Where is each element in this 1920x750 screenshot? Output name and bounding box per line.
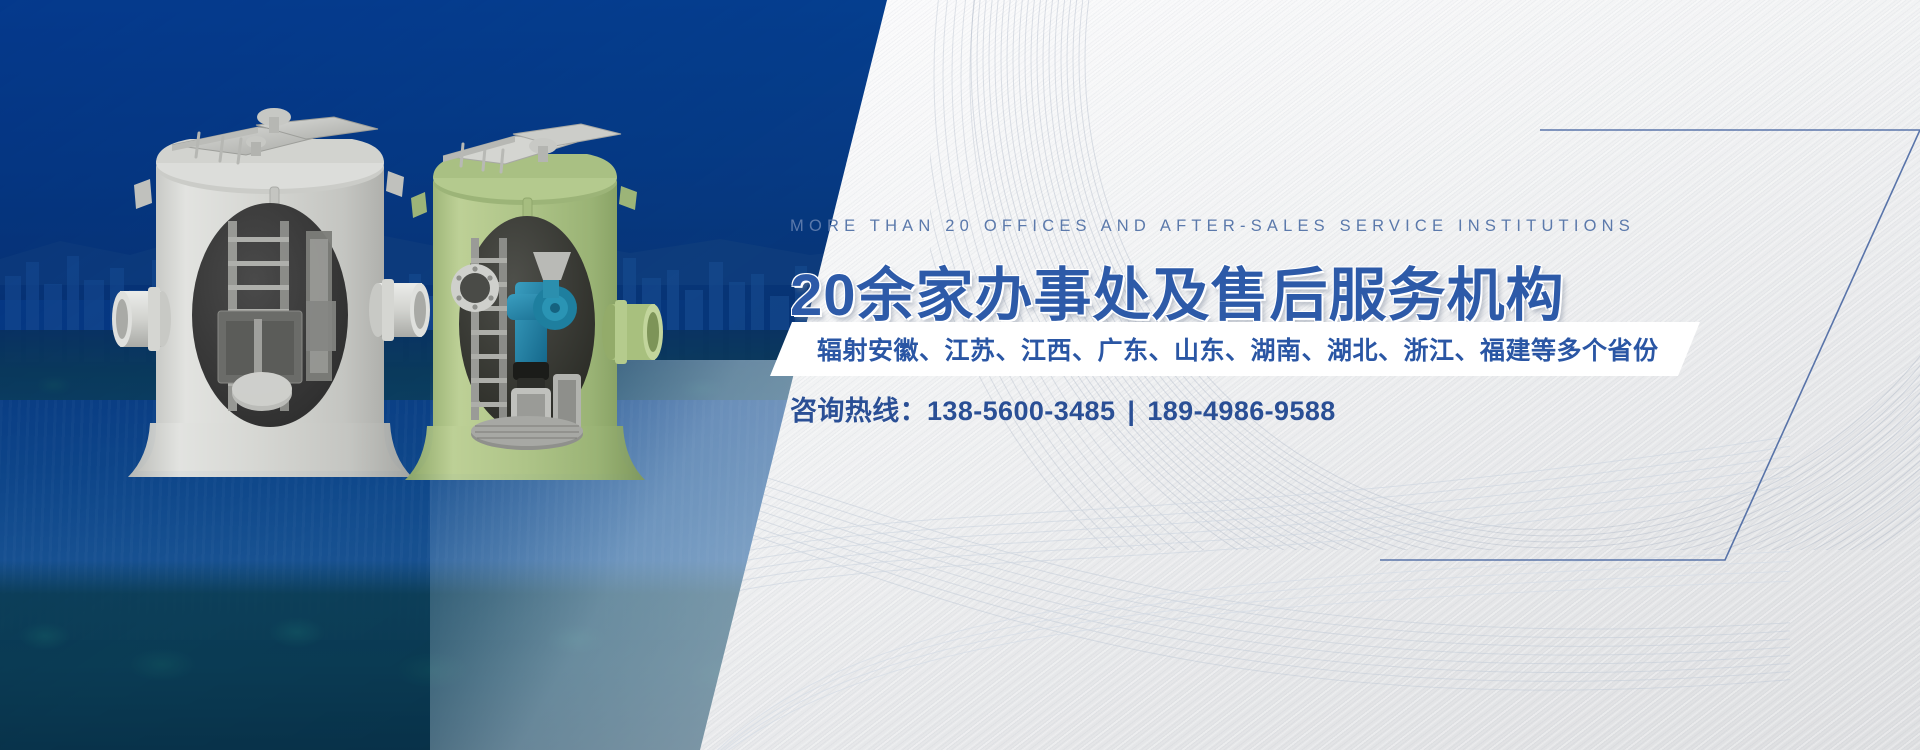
page-title: 20余家办事处及售后服务机构 xyxy=(790,248,1565,332)
eyebrow-text: MORE THAN 20 OFFICES AND AFTER-SALES SER… xyxy=(790,217,1390,236)
gray-pump-station-render xyxy=(120,105,420,505)
green-pump-station-render xyxy=(395,112,655,507)
hotline-primary-number[interactable]: 138-5600-3485 xyxy=(927,396,1115,426)
promo-banner: MORE THAN 20 OFFICES AND AFTER-SALES SER… xyxy=(0,0,1920,750)
coverage-bar: 辐射安徽、江苏、江西、广东、山东、湖南、湖北、浙江、福建等多个省份 xyxy=(770,322,1700,376)
hotline-label: 咨询热线： xyxy=(790,396,927,426)
hotline-separator: | xyxy=(1115,396,1147,426)
hotline-secondary-number[interactable]: 189-4986-9588 xyxy=(1147,396,1335,426)
hotline-row: 咨询热线：138-5600-3485|189-4986-9588 xyxy=(790,389,1336,428)
coverage-text: 辐射安徽、江苏、江西、广东、山东、湖南、湖北、浙江、福建等多个省份 xyxy=(817,331,1659,367)
